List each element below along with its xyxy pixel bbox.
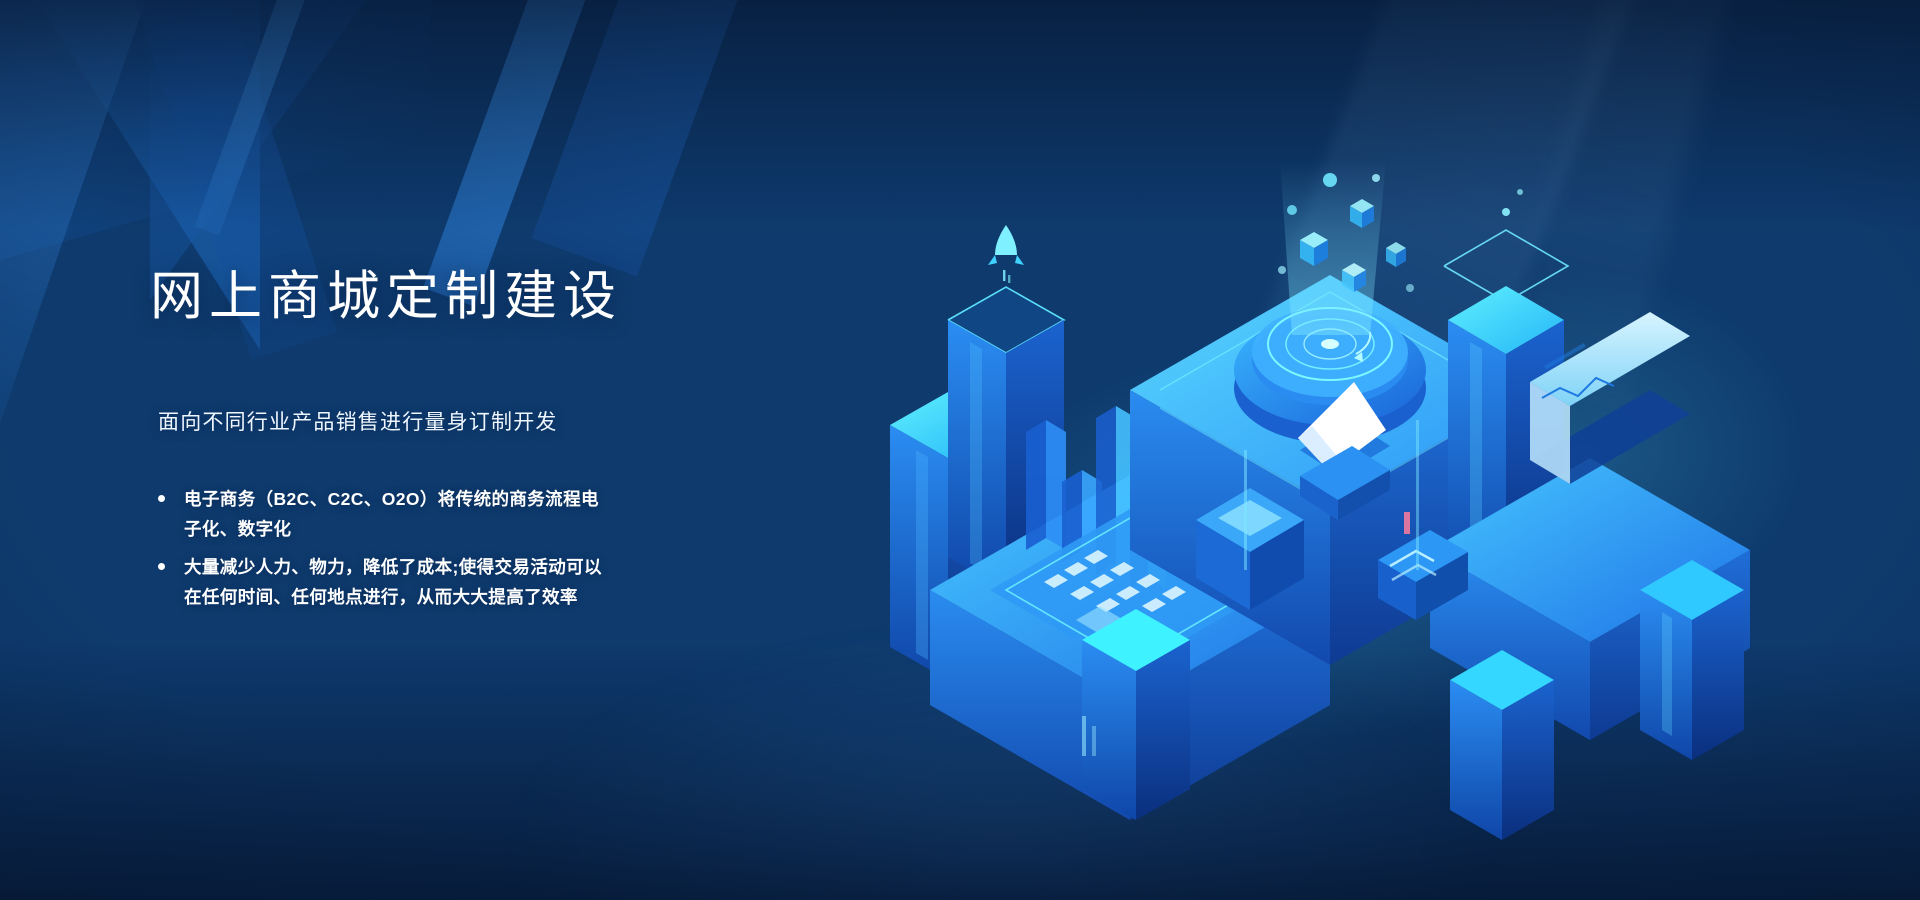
page-subtitle: 面向不同行业产品销售进行量身订制开发 [158,406,850,436]
list-item-text: 大量减少人力、物力，降低了成本;使得交易活动可以在任何时间、任何地点进行，从而大… [184,557,602,607]
pillar-bottom-right-a [1450,650,1554,840]
list-item-text: 电子商务（B2C、C2C、O2O）将传统的商务流程电子化、数字化 [184,489,599,539]
bullet-dot-icon [158,495,165,502]
feature-list: 电子商务（B2C、C2C、O2O）将传统的商务流程电子化、数字化 大量减少人力、… [156,484,850,612]
list-item: 大量减少人力、物力，降低了成本;使得交易活动可以在任何时间、任何地点进行，从而大… [156,552,616,612]
isometric-illustration [830,120,1860,860]
page-title: 网上商城定制建设 [150,266,850,329]
list-item: 电子商务（B2C、C2C、O2O）将传统的商务流程电子化、数字化 [156,484,616,544]
banner-copy: 网上商城定制建设 面向不同行业产品销售进行量身订制开发 电子商务（B2C、C2C… [150,230,850,628]
rocket-icon [988,225,1024,283]
bullet-dot-icon [158,563,165,570]
hero-banner: 网上商城定制建设 面向不同行业产品销售进行量身订制开发 电子商务（B2C、C2C… [0,0,1920,900]
pillar-bottom-right-b [1640,560,1744,760]
pillar-cyan-top [1082,609,1190,820]
